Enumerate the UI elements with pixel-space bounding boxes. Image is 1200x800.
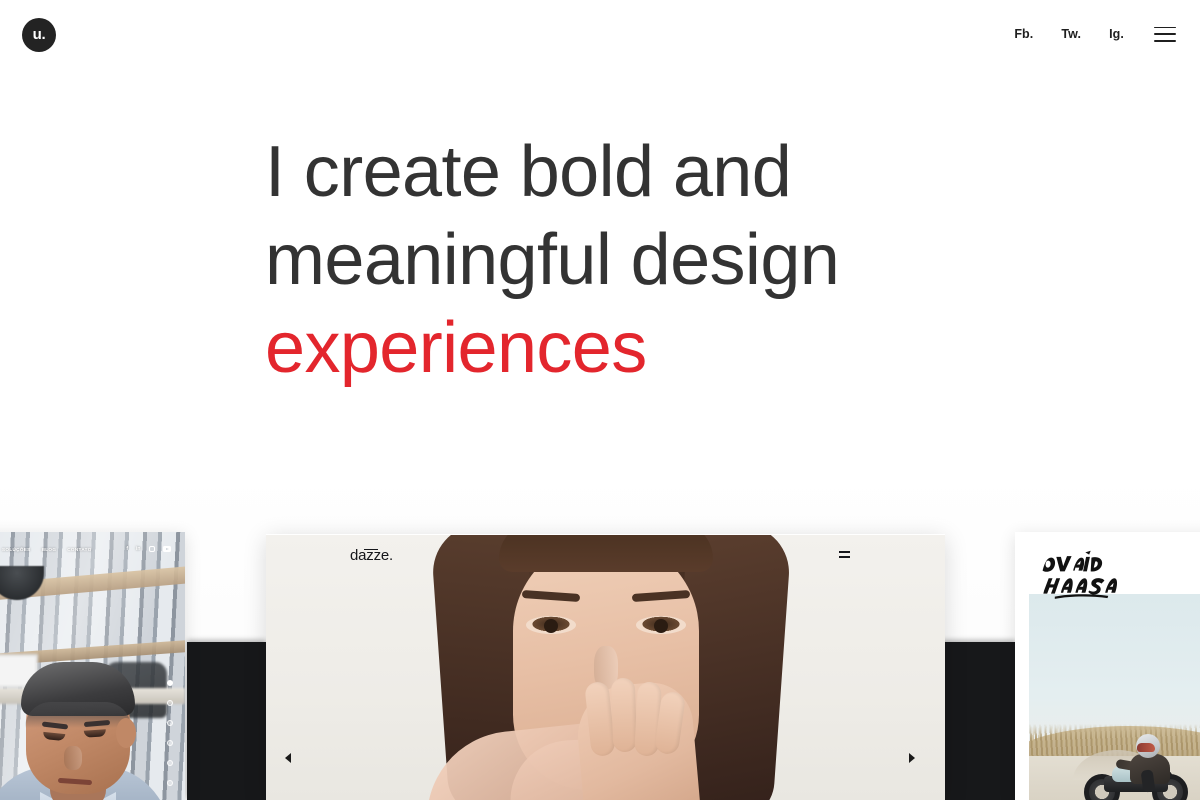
header-nav: Fb. Tw. Ig. [1000, 24, 1180, 45]
card-left-nav-blog[interactable]: BLOG [42, 547, 57, 552]
page-root: u. Fb. Tw. Ig. I create bold and meaning… [0, 0, 1200, 800]
card-left-dot-1[interactable] [167, 700, 173, 706]
card-left-dot-4[interactable] [167, 760, 173, 766]
nose [64, 746, 82, 770]
card-left-social: f in [126, 546, 171, 553]
card-center-photo [266, 534, 945, 800]
hamburger-menu-icon[interactable] [1154, 27, 1176, 42]
card-left-dot-5[interactable] [167, 780, 173, 786]
motorcycle [1084, 746, 1188, 800]
linkedin-icon[interactable]: in [136, 546, 140, 552]
rider [1128, 744, 1172, 784]
card-left-navbar: SOLUÇÕES BLOG CONTATO f in [0, 532, 185, 566]
hero-line-2: meaningful design [265, 216, 1165, 304]
eye-right [636, 616, 686, 634]
dazze-logo-overline [364, 549, 378, 550]
site-header: u. Fb. Tw. Ig. [0, 0, 1200, 70]
portfolio-card-consultoria[interactable]: SOLUÇÕES BLOG CONTATO f in [0, 532, 185, 800]
nav-link-instagram[interactable]: Ig. [1095, 24, 1138, 45]
hero-line-1: I create bold and [265, 128, 1165, 216]
card-left-dot-rail[interactable] [167, 680, 173, 800]
dark-panel-right [937, 642, 1016, 800]
ear [116, 718, 136, 748]
burger-line-1 [1154, 27, 1176, 29]
card-left-nav-solucoes[interactable]: SOLUÇÕES [2, 547, 31, 552]
youtube-icon[interactable] [163, 546, 171, 552]
eye-left [526, 616, 576, 634]
menu-line-2 [839, 556, 850, 558]
menu-line-1 [839, 551, 850, 553]
card-left-nav-contato[interactable]: CONTATO [67, 547, 91, 552]
finger-2 [610, 678, 637, 753]
david-haase-logo-icon [1038, 550, 1122, 602]
facebook-icon[interactable]: f [126, 546, 128, 552]
portfolio-showcase: SOLUÇÕES BLOG CONTATO f in [0, 505, 1200, 800]
nav-link-facebook[interactable]: Fb. [1000, 24, 1047, 45]
logo-circle-u-icon[interactable]: u. [22, 18, 56, 52]
card-left-nav-links: SOLUÇÕES BLOG CONTATO [2, 547, 92, 552]
card-left-photo [0, 532, 185, 800]
logo-text: u. [33, 27, 46, 42]
hair [21, 662, 135, 716]
helmet-visor [1137, 743, 1155, 752]
businessman-figure [0, 636, 164, 800]
hair-fringe [499, 534, 713, 572]
dark-panel-left [187, 642, 266, 800]
dazze-logo[interactable]: dazze. [350, 548, 393, 563]
hero-heading: I create bold and meaningful design expe… [265, 128, 1165, 392]
equals-menu-icon[interactable] [839, 551, 850, 558]
instagram-icon[interactable] [149, 546, 156, 553]
carousel-next-arrow[interactable] [909, 753, 915, 763]
portfolio-card-dazze[interactable]: dazze. [266, 534, 945, 800]
portfolio-card-david-haase[interactable] [1015, 532, 1200, 800]
card-left-dot-0[interactable] [167, 680, 173, 686]
card-left-dot-3[interactable] [167, 740, 173, 746]
nav-link-twitter[interactable]: Tw. [1047, 24, 1095, 45]
card-right-photo [1029, 594, 1200, 800]
carousel-prev-arrow[interactable] [285, 753, 291, 763]
hero-line-3-accent: experiences [265, 304, 1165, 392]
burger-line-2 [1154, 33, 1176, 35]
card-left-dot-2[interactable] [167, 720, 173, 726]
card-center-top-edge [266, 534, 945, 535]
burger-line-3 [1154, 40, 1176, 42]
